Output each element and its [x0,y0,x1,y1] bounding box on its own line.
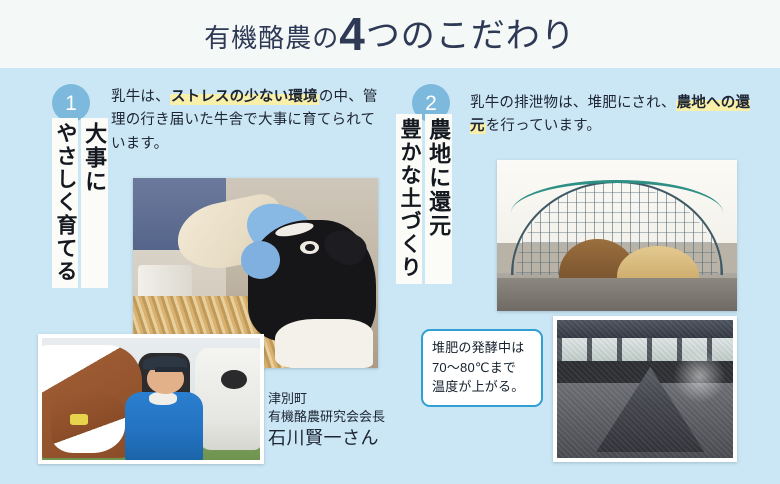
title-suffix: つのこだわり [366,17,576,55]
compost-arch-barn-photo [497,160,737,311]
item-2-text-part2: を行っています。 [486,118,601,134]
calf-photo-calf-belly [275,319,373,368]
title-particle: の [312,23,339,53]
credit-role: 有機酪農研究会会長 [268,408,385,426]
header-bar: 有機酪農の4つのこだわり [0,0,780,68]
calf-photo-hand [241,241,280,279]
farmer-photo-ear-tag [70,414,87,425]
compost-temperature-callout: 堆肥の発酵中は 70〜80℃まで 温度が上がる。 [421,329,543,407]
item-2-vertical-lead: 農地に還元 [425,114,452,284]
item-2-text-part1: 乳牛の排泄物は、堆肥にされ、 [470,95,676,111]
item-1-highlight: ストレスの少ない環境 [170,89,319,105]
callout-line-3: 温度が上がる。 [432,377,533,397]
barn-photo-ground [497,278,737,311]
item-2-vertical-sub: 豊かな土づくり [396,114,422,284]
credit-town: 津別町 [268,390,385,408]
photo-credit: 津別町 有機酪農研究会会長 石川賢一さん [268,390,385,450]
page-title: 有機酪農の4つのこだわり [204,7,576,61]
callout-line-2: 70〜80℃まで [432,358,533,378]
callout-line-1: 堆肥の発酵中は [432,338,533,358]
farmer-photo-cow-right-spot [221,370,247,390]
calf-photo-calf-eye [300,241,320,254]
item-1-vertical-lead: 大事に [81,118,108,288]
item-1-number-badge: 1 [52,84,90,122]
farmer-photo-cow-left-head [51,392,125,453]
farmer-photo-cow-right [195,348,264,450]
compost-photo-texture [557,320,733,458]
item-1-text-part1: 乳牛は、 [111,89,170,105]
item-2-description: 乳牛の排泄物は、堆肥にされ、農地への還元を行っています。 [470,92,758,139]
title-number: 4 [339,8,366,60]
compost-piles-photo [553,316,737,462]
farmer-with-cows-photo [38,334,264,464]
credit-name: 石川賢一さん [268,426,385,450]
infographic-root: 有機酪農の4つのこだわり 1 乳牛は、ストレスの少ない環境の中、管理の行き届いた… [0,0,780,484]
title-prefix: 有機酪農 [204,23,312,53]
item-1-vertical-label: 大事に やさしく育てる [52,118,108,288]
item-2-vertical-label: 農地に還元 豊かな土づくり [396,114,452,284]
item-1-description: 乳牛は、ストレスの少ない環境の中、管理の行き届いた牛舎で大事に育てられています。 [111,86,381,156]
item-1-vertical-sub: やさしく育てる [52,118,78,288]
farmer-photo-cap-brim [155,367,190,372]
